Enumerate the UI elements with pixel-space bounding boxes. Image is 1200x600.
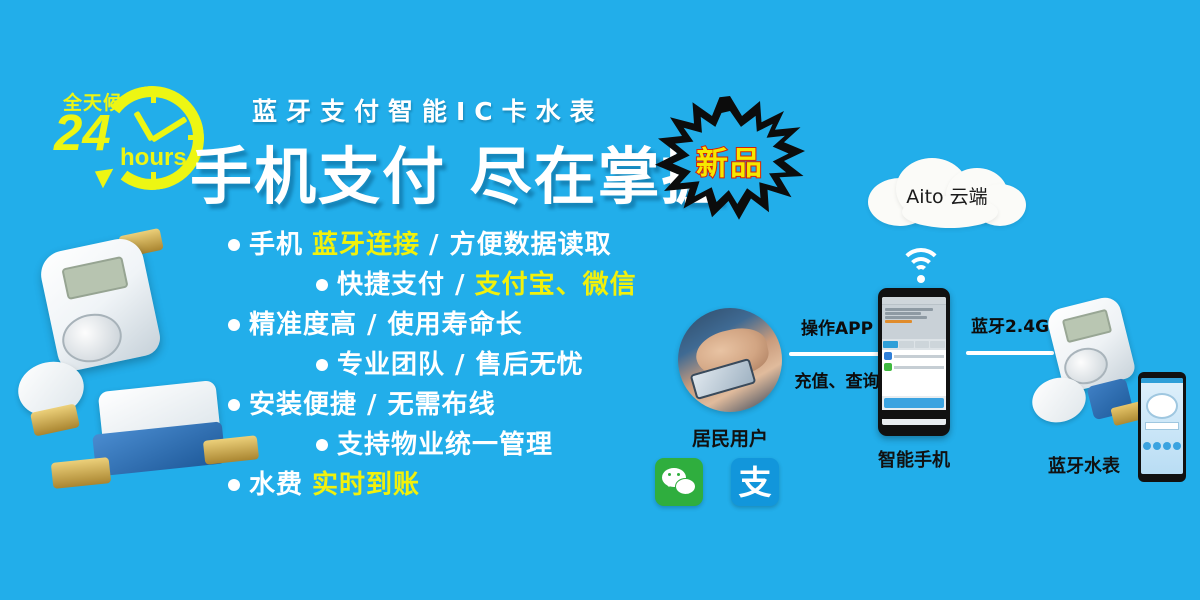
feature-prefix: 专业团队 / 售后无忧 — [337, 352, 584, 378]
promo-banner: 全天候 24 hours 蓝牙支付智能IC卡水表 手机支付 尽在掌握 新品 手机… — [0, 0, 1200, 600]
app-tab-bar — [882, 339, 946, 350]
list-item: 精准度高 / 使用寿命长 — [228, 312, 698, 338]
list-item: 快捷支付 / 支付宝、微信 — [228, 272, 698, 298]
cloud-label: Aito 云端 — [862, 182, 1032, 209]
app-action-icons — [1141, 442, 1183, 450]
clock-tick-bottom — [151, 172, 156, 185]
app-flow-labels: 操作APP 充值、查询 — [782, 314, 892, 392]
bullet-dot-icon — [316, 359, 328, 371]
feature-suffix: / 方便数据读取 — [429, 232, 612, 258]
new-product-badge: 新品 — [655, 96, 805, 221]
feature-highlight: 实时到账 — [312, 472, 420, 498]
app-payment-list — [882, 350, 946, 396]
list-item: 手机 蓝牙连接 / 方便数据读取 — [228, 232, 698, 258]
app-nav-bar — [882, 297, 946, 305]
list-item: 安装便捷 / 无需布线 — [228, 392, 698, 418]
feature-highlight: 蓝牙连接 — [312, 232, 420, 258]
phone-home-bar — [882, 410, 946, 419]
list-item: 支持物业统一管理 — [228, 432, 698, 458]
all-day-badge: 全天候 24 hours — [48, 82, 198, 194]
app-header-bar — [1141, 378, 1183, 383]
clock-tick-top — [151, 90, 156, 103]
banner-subtitle: 蓝牙支付智能IC卡水表 — [252, 92, 604, 128]
smartphone-label: 智能手机 — [858, 446, 970, 472]
meter-app-screen — [1141, 378, 1183, 474]
feature-prefix: 精准度高 / 使用寿命长 — [249, 312, 523, 338]
app-info-panel — [882, 305, 946, 339]
cloud-server-graphic: Aito 云端 — [862, 156, 1032, 230]
resident-user-photo — [678, 308, 782, 412]
arrow-bottom-label: 充值、查询 — [782, 367, 892, 392]
arrow-top-label: 操作APP — [782, 314, 892, 339]
list-item: 专业团队 / 售后无忧 — [228, 352, 698, 378]
alipay-icon[interactable]: 支 — [731, 458, 779, 506]
badge-number: 24 — [54, 107, 111, 158]
feature-list: 手机 蓝牙连接 / 方便数据读取 快捷支付 / 支付宝、微信 精准度高 / 使用… — [228, 232, 698, 512]
banner-title: 手机支付 尽在掌握 — [190, 126, 726, 216]
wifi-icon — [898, 248, 944, 284]
list-item — [884, 363, 944, 371]
bullet-dot-icon — [316, 279, 328, 291]
app-confirm-button — [884, 398, 944, 408]
alipay-glyph: 支 — [739, 466, 772, 499]
new-product-label: 新品 — [655, 138, 805, 184]
meter-b-brass-right — [203, 435, 259, 465]
list-item — [884, 352, 944, 360]
smartphone-mockup — [878, 288, 950, 436]
app-meter-digits — [1145, 422, 1179, 430]
resident-user-label: 居民用户 — [648, 424, 812, 451]
feature-highlight: 支付宝、微信 — [475, 272, 637, 298]
water-meter-label: 蓝牙水表 — [1020, 452, 1148, 478]
phone-screen — [882, 297, 946, 425]
meter-b-brass-left — [51, 457, 111, 489]
badge-hours-text: hours — [120, 144, 187, 172]
product-water-meters-image — [8, 226, 258, 526]
feature-prefix: 快捷支付 / — [337, 272, 466, 298]
feature-prefix: 安装便捷 / 无需布线 — [249, 392, 496, 418]
meter-reading-phone-mockup — [1138, 372, 1186, 482]
bullet-dot-icon — [316, 439, 328, 451]
payment-method-icons: 支 — [655, 458, 779, 506]
feature-prefix: 支持物业统一管理 — [337, 432, 553, 458]
connector-line — [789, 352, 885, 356]
list-item: 水费 实时到账 — [228, 472, 698, 498]
app-meter-dial — [1146, 393, 1178, 419]
wechat-pay-icon[interactable] — [655, 458, 703, 506]
